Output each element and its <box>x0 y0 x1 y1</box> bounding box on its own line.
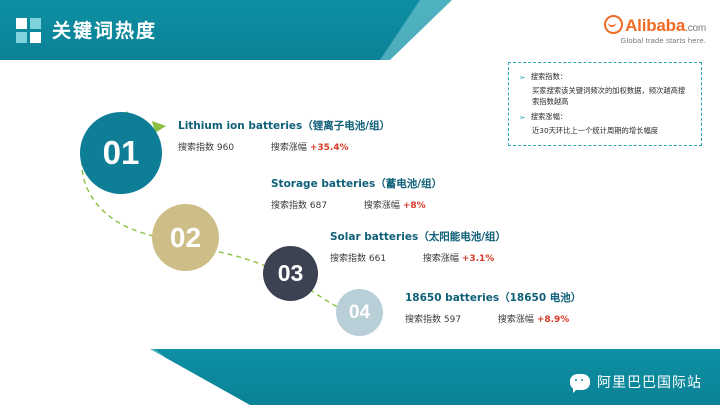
arrow-bullet-icon: ➢ <box>519 112 526 124</box>
slide-canvas: 关键词热度 Alibaba.com Global trade starts he… <box>0 0 720 405</box>
rank-circle-1: 01 <box>80 112 162 194</box>
footer-account: 阿里巴巴国际站 <box>570 372 702 392</box>
logo-brand: Alibaba <box>625 16 685 35</box>
footer-account-name: 阿里巴巴国际站 <box>597 372 702 392</box>
wechat-icon <box>570 374 590 390</box>
search-growth: 搜索涨幅 +3.1% <box>423 251 494 264</box>
keyword-metrics: 搜索指数 687 搜索涨幅 +8% <box>271 198 442 211</box>
search-growth: 搜索涨幅 +35.4% <box>271 140 349 153</box>
search-growth: 搜索涨幅 +8.9% <box>498 312 569 325</box>
note-text-2: 近30天环比上一个统计周期的增长幅度 <box>532 126 691 137</box>
keyword-title: Lithium ion batteries（锂离子电池/组） <box>178 118 390 133</box>
search-growth-label: 搜索涨幅 <box>423 254 459 264</box>
logo-tld: .com <box>685 23 706 34</box>
logo-tagline: Global trade starts here. <box>604 37 706 45</box>
search-growth-label: 搜索涨幅 <box>498 315 534 325</box>
rank-circle-4: 04 <box>336 289 383 336</box>
slide-footer: 阿里巴巴国际站 <box>0 349 720 405</box>
search-growth-value: +35.4% <box>310 143 349 153</box>
note-item-2: ➢ 搜索涨幅： <box>519 112 691 124</box>
search-growth-label: 搜索涨幅 <box>364 201 400 211</box>
footer-white-wedge <box>0 349 250 405</box>
note-text-1: 买家搜索该关键词频次的加权数据，频次越高搜索指数越高 <box>532 86 691 107</box>
search-growth-label: 搜索涨幅 <box>271 143 307 153</box>
slide-header: 关键词热度 Alibaba.com Global trade starts he… <box>0 0 720 60</box>
keyword-item-2: Storage batteries（蓄电池/组） 搜索指数 687 搜索涨幅 +… <box>271 176 442 211</box>
keyword-metrics: 搜索指数 597 搜索涨幅 +8.9% <box>405 312 581 325</box>
arrow-bullet-icon: ➢ <box>519 72 526 84</box>
keyword-item-3: Solar batteries（太阳能电池/组） 搜索指数 661 搜索涨幅 +… <box>330 229 506 264</box>
alibaba-mark-icon <box>604 15 623 34</box>
search-index: 搜索指数 687 <box>271 198 327 211</box>
squares-logo-icon <box>16 18 42 44</box>
keyword-title: Storage batteries（蓄电池/组） <box>271 176 442 191</box>
keyword-item-1: Lithium ion batteries（锂离子电池/组） 搜索指数 960 … <box>178 118 390 153</box>
search-growth-value: +8.9% <box>537 315 570 325</box>
keyword-title: 18650 batteries（18650 电池） <box>405 290 581 305</box>
note-text: 买家搜索该关键词频次的加权数据，频次越高搜索指数越高 <box>532 86 691 107</box>
search-growth: 搜索涨幅 +8% <box>364 198 426 211</box>
alibaba-logo: Alibaba.com Global trade starts here. <box>604 12 706 45</box>
legend-note-box: ➢ 搜索指数： 买家搜索该关键词频次的加权数据，频次越高搜索指数越高 ➢ 搜索涨… <box>508 62 702 146</box>
keyword-title: Solar batteries（太阳能电池/组） <box>330 229 506 244</box>
search-growth-value: +8% <box>403 201 426 211</box>
note-label: 搜索指数： <box>531 72 567 84</box>
page-title: 关键词热度 <box>52 16 157 43</box>
rank-circle-3: 03 <box>263 246 318 301</box>
keyword-metrics: 搜索指数 960 搜索涨幅 +35.4% <box>178 140 390 153</box>
rank-circle-2: 02 <box>152 204 219 271</box>
note-text: 近30天环比上一个统计周期的增长幅度 <box>532 126 658 137</box>
search-index: 搜索指数 597 <box>405 312 461 325</box>
keyword-metrics: 搜索指数 661 搜索涨幅 +3.1% <box>330 251 506 264</box>
note-label: 搜索涨幅： <box>531 112 567 124</box>
search-index: 搜索指数 960 <box>178 140 234 153</box>
note-item-1: ➢ 搜索指数： <box>519 72 691 84</box>
keyword-item-4: 18650 batteries（18650 电池） 搜索指数 597 搜索涨幅 … <box>405 290 581 325</box>
search-index: 搜索指数 661 <box>330 251 386 264</box>
search-growth-value: +3.1% <box>462 254 495 264</box>
